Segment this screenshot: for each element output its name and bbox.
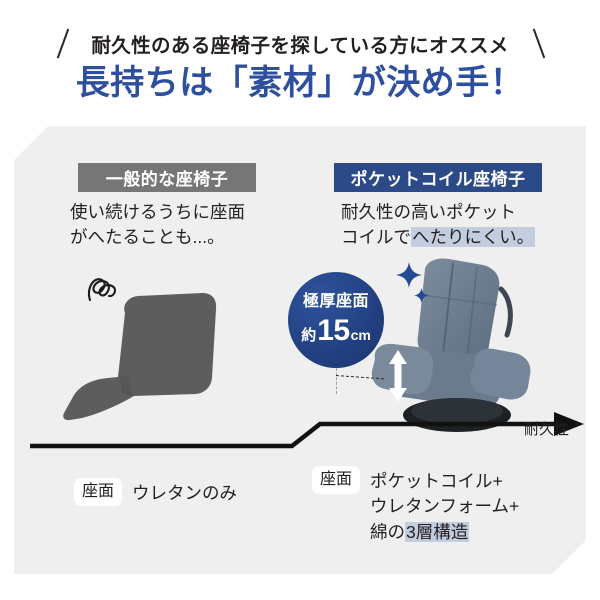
vertical-dashed-leader bbox=[336, 368, 337, 394]
page-title: 長持ちは「素材」が決め手！ bbox=[0, 64, 600, 103]
right-description-line1: 耐久性の高いポケット bbox=[341, 200, 535, 225]
thickness-callout-badge: 極厚座面 約 15 cm bbox=[288, 272, 384, 368]
right-caption-line1: ポケットコイル+ bbox=[370, 469, 519, 494]
sparkle-star-icon bbox=[396, 262, 422, 288]
right-description: 耐久性の高いポケット コイルでへたりにくい。 bbox=[341, 200, 535, 251]
right-caption-line3-plain: 綿の bbox=[370, 522, 405, 542]
right-caption-line3-highlight: 3層構造 bbox=[405, 522, 469, 542]
badge-pocket-coil-chair: ポケットコイル座椅子 bbox=[334, 163, 542, 192]
kicker-row: 耐久性のある座椅子を探している方にオススメ bbox=[0, 26, 600, 60]
up-down-arrow-icon bbox=[388, 350, 408, 402]
left-caption-text: ウレタンのみ bbox=[132, 478, 237, 506]
left-description: 使い続けるうちに座面 がへたることも...。 bbox=[70, 200, 245, 251]
callout-value: 15 bbox=[317, 316, 349, 346]
left-caption-chip: 座面 bbox=[74, 478, 122, 506]
right-description-line2: コイルでへたりにくい。 bbox=[341, 225, 535, 250]
right-description-highlight: へたりにくい。 bbox=[411, 227, 535, 247]
kicker-text: 耐久性のある座椅子を探している方にオススメ bbox=[91, 29, 508, 58]
right-caption-line3: 綿の3層構造 bbox=[370, 520, 519, 545]
diagonal-slash-left-icon bbox=[49, 26, 75, 60]
right-caption-line2: ウレタンフォーム+ bbox=[370, 494, 519, 519]
left-description-line2: がへたることも...。 bbox=[70, 225, 245, 250]
callout-label: 極厚座面 bbox=[303, 294, 369, 310]
sparkle-star-small-icon bbox=[414, 288, 429, 303]
headline-block: 耐久性のある座椅子を探している方にオススメ 長持ちは「素材」が決め手！ bbox=[0, 26, 600, 103]
right-caption-text: ポケットコイル+ ウレタンフォーム+ 綿の3層構造 bbox=[370, 466, 519, 545]
axis-label: 耐久性 bbox=[524, 418, 569, 439]
callout-prefix: 約 bbox=[301, 328, 316, 343]
left-description-line1: 使い続けるうちに座面 bbox=[70, 200, 245, 225]
left-caption: 座面 ウレタンのみ bbox=[74, 478, 237, 506]
badge-generic-chair: 一般的な座椅子 bbox=[78, 163, 256, 192]
right-description-line2-plain: コイルで bbox=[341, 227, 411, 247]
right-caption-chip: 座面 bbox=[312, 466, 360, 494]
infographic-root: 耐久性のある座椅子を探している方にオススメ 長持ちは「素材」が決め手！ 一般的な… bbox=[0, 0, 600, 600]
callout-value-row: 約 15 cm bbox=[301, 316, 371, 346]
diagonal-slash-right-icon bbox=[525, 26, 551, 60]
right-caption: 座面 ポケットコイル+ ウレタンフォーム+ 綿の3層構造 bbox=[312, 466, 519, 545]
callout-unit: cm bbox=[351, 328, 371, 342]
